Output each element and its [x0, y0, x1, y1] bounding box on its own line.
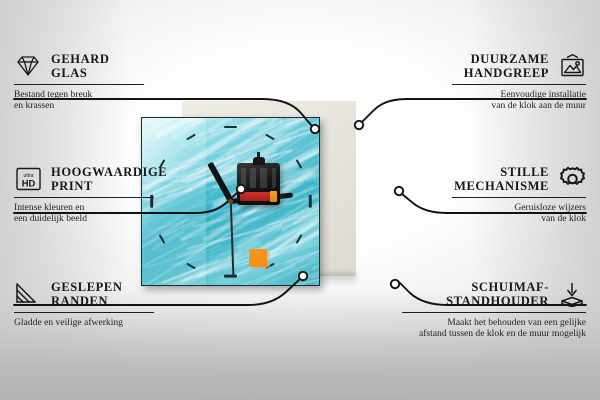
feature-geslepen-randen[interactable]: GESLEPEN RANDEN Gladde en veilige afwerk… [14, 280, 154, 328]
feature-desc-line2: afstand tussen de klok en de muur mogeli… [402, 328, 586, 339]
product-photo [141, 101, 356, 284]
diamond-icon [14, 52, 42, 80]
feature-divider [14, 312, 154, 313]
feature-stille-mechanisme[interactable]: STILLE MECHANISME Geruisloze wijzers van… [452, 165, 586, 225]
feature-desc-line2: van de klok aan de muur [452, 100, 586, 111]
feature-desc-line1: Bestand tegen breuk [14, 89, 144, 100]
clock-mechanism [237, 163, 280, 205]
gear-icon [558, 165, 586, 193]
clock-tick [224, 126, 237, 129]
foam-spacer [249, 249, 267, 267]
connector-dot-standhouder [391, 280, 399, 288]
feature-desc-line1: Gladde en veilige afwerking [14, 317, 154, 328]
feature-desc-line2: van de klok [452, 213, 586, 224]
feature-title-line2: RANDEN [51, 294, 123, 308]
feature-title-line2: GLAS [51, 66, 109, 80]
connector-dot-handgreep [355, 121, 363, 129]
feature-title-line1: HOOGWAARDIGE [51, 165, 167, 179]
feature-desc-line1: Eenvoudige installatie [452, 89, 586, 100]
feature-duurzame-handgreep[interactable]: DUURZAME HANDGREEP Eenvoudige installati… [452, 52, 586, 112]
feature-divider [14, 197, 154, 198]
spacer-arrow-icon [558, 280, 586, 308]
feature-schuimafstandhouder[interactable]: SCHUIMAF- STANDHOUDER Maakt het behouden… [402, 280, 586, 340]
mechanism-hanger [253, 157, 265, 165]
feature-title-line2: STANDHOUDER [446, 294, 549, 308]
feature-title-line2: PRINT [51, 179, 167, 193]
feature-divider [14, 84, 144, 85]
clock-tick [309, 195, 312, 208]
clock-tick [224, 275, 237, 278]
feature-desc-line1: Intense kleuren en [14, 202, 154, 213]
feature-title-line1: STILLE [454, 165, 549, 179]
feature-title-line1: SCHUIMAF- [446, 280, 549, 294]
feature-title-line1: GEHARD [51, 52, 109, 66]
svg-text:HD: HD [21, 177, 35, 188]
feature-desc-line2: en krassen [14, 100, 144, 111]
battery [240, 192, 277, 201]
ultra-hd-icon: ultra HD [14, 165, 42, 193]
mechanism-body-detail [241, 168, 276, 188]
glass-wall-clock [141, 117, 320, 286]
bevelled-edges-icon [14, 280, 42, 308]
clock-center-hub [228, 199, 233, 204]
infographic-canvas: GEHARD GLAS Bestand tegen breuk en krass… [0, 0, 600, 400]
feature-desc-line1: Geruisloze wijzers [452, 202, 586, 213]
picture-hanger-icon [558, 52, 586, 80]
feature-title-line2: MECHANISME [454, 179, 549, 193]
feature-title-line1: DUURZAME [464, 52, 549, 66]
feature-divider [452, 84, 586, 85]
feature-desc-line1: Maakt het behouden van een gelijke [402, 317, 586, 328]
connector-dot-mechanisme [395, 187, 403, 195]
feature-hoogwaardige-print[interactable]: ultra HD HOOGWAARDIGE PRINT Intense kleu… [14, 165, 154, 225]
feature-title-line2: HANDGREEP [464, 66, 549, 80]
feature-divider [402, 312, 586, 313]
feature-desc-line2: een duidelijk beeld [14, 213, 154, 224]
feature-divider [452, 197, 586, 198]
feature-title-line1: GESLEPEN [51, 280, 123, 294]
feature-gehard-glas[interactable]: GEHARD GLAS Bestand tegen breuk en krass… [14, 52, 144, 112]
